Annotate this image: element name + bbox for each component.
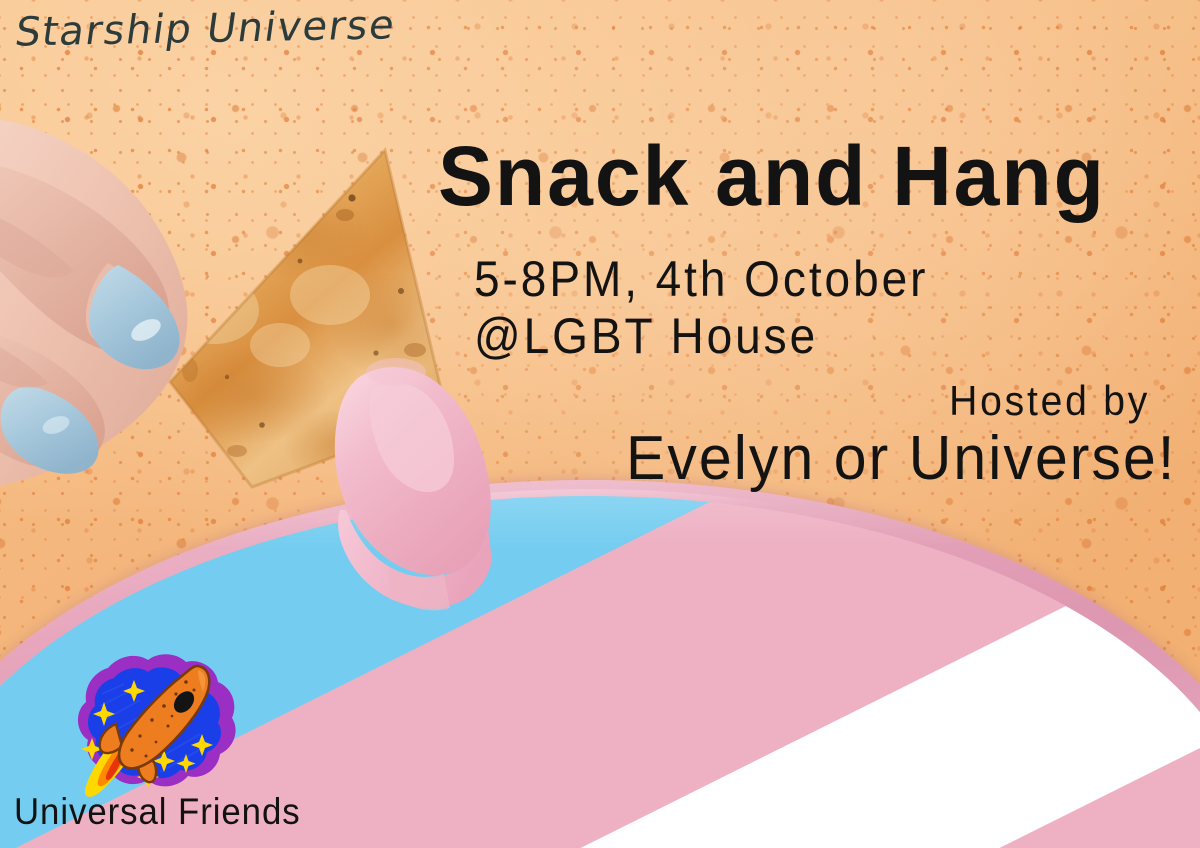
- host-names: Evelyn or Universe!: [626, 428, 1176, 490]
- event-time-line: 5-8PM, 4th October: [474, 254, 928, 304]
- rocket-in-space-cloud-icon: [60, 650, 246, 802]
- event-place-line: @LGBT House: [474, 311, 818, 361]
- poster-canvas: Starship Universe Snack and Hang 5-8PM, …: [0, 0, 1200, 848]
- hosted-by-label: Hosted by: [949, 380, 1150, 422]
- brand-script-title: Starship Universe: [12, 2, 398, 55]
- event-headline: Snack and Hang: [438, 134, 1106, 218]
- organization-name: Universal Friends: [14, 793, 301, 830]
- dip-top-sheen: [366, 358, 426, 386]
